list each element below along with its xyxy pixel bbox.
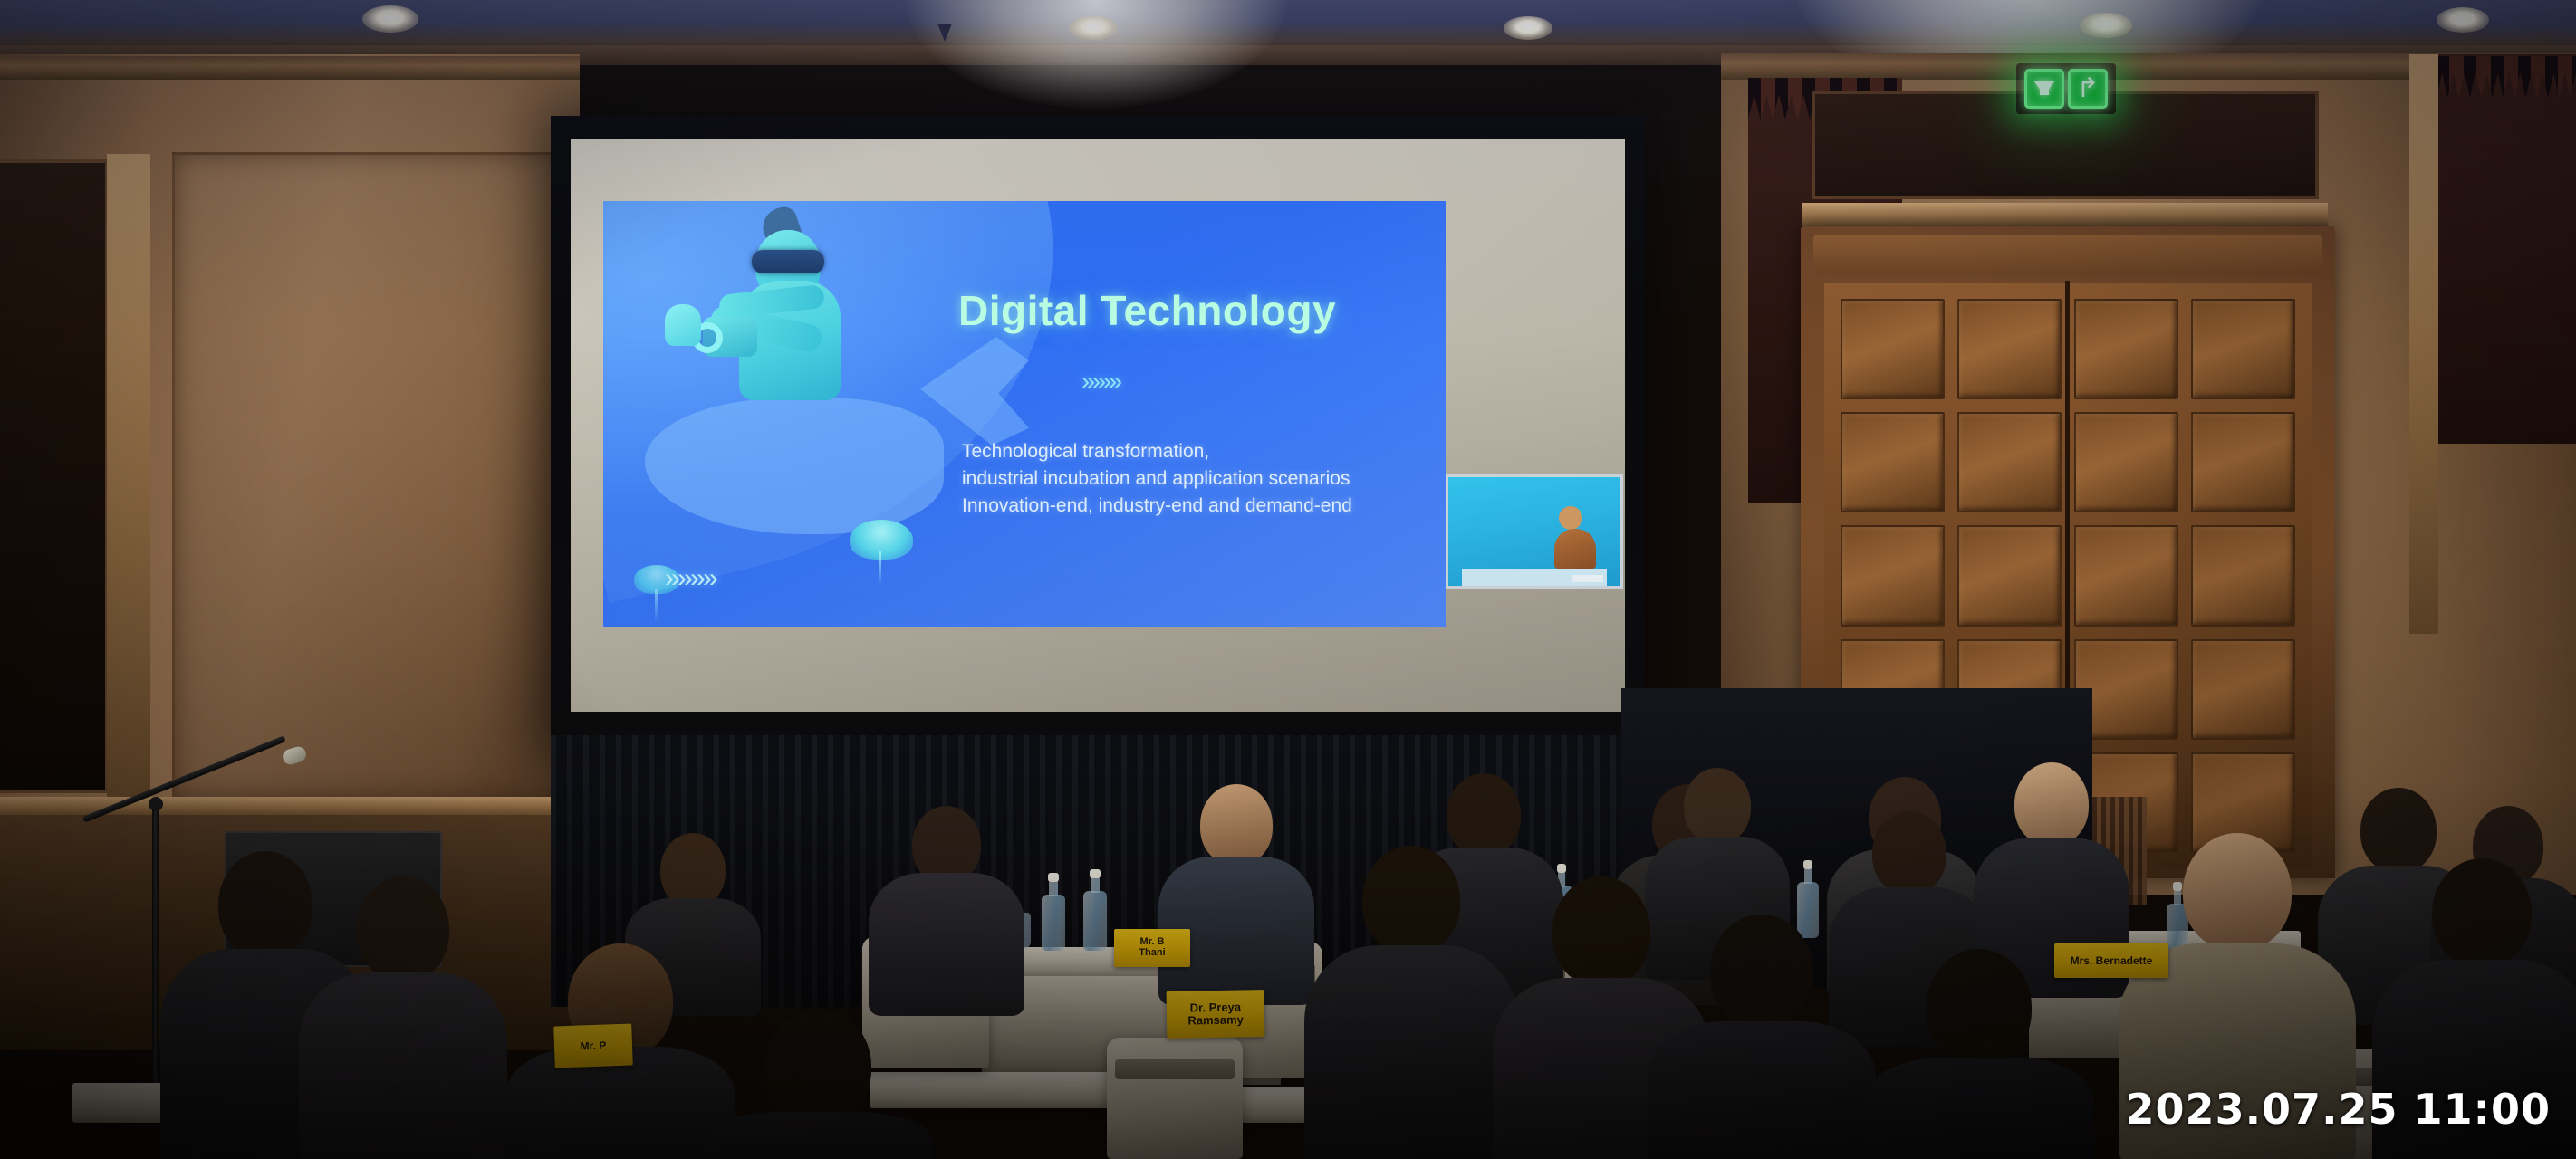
audience-torso	[1304, 945, 1518, 1159]
audience-head	[1927, 949, 2032, 1065]
door-panel-square	[2074, 525, 2178, 626]
name-placard: Mrs. Bernadette	[2054, 943, 2168, 978]
chevron-decoration-right: ›››››››	[1081, 368, 1120, 396]
audience-head	[1362, 846, 1460, 954]
slide-content: ››››››› ›››››››› Digital Technology Tech…	[603, 201, 1446, 627]
door-panel-square	[1957, 525, 2062, 626]
audience-head	[660, 833, 726, 907]
audience-torso	[1648, 1021, 1876, 1159]
exit-down-arrow-icon	[2024, 69, 2064, 109]
exit-sign: ↱	[2016, 63, 2116, 114]
conference-hall-photo: ↱	[0, 0, 2576, 1159]
door-panel-square	[2191, 299, 2295, 399]
door-panel-square	[1841, 525, 1945, 626]
slide-title: Digital Technology	[958, 286, 1336, 335]
door-panel-square	[2074, 299, 2178, 399]
downlight-icon	[362, 5, 418, 33]
left-wall-pilaster	[107, 154, 150, 797]
name-placard: Dr. Preya Ramsamy	[1167, 990, 1265, 1039]
pip-speaker-body	[1554, 529, 1596, 569]
left-wall-chair-rail	[0, 797, 580, 817]
microphone-stand-pole	[152, 804, 159, 1094]
door-panel-square	[1841, 299, 1945, 399]
water-bottle	[1042, 895, 1065, 951]
name-placard: Mr. B Thani	[1114, 929, 1190, 967]
audience-head-bald	[2183, 833, 2292, 951]
door-panel-square	[1957, 299, 2062, 399]
audience-head	[764, 1009, 871, 1123]
name-placard-text-line2: Ramsamy	[1187, 1013, 1244, 1027]
audience-torso	[869, 873, 1024, 1016]
name-placard-text-line2: Thani	[1139, 948, 1165, 959]
downlight-icon	[2080, 13, 2132, 38]
audience-head	[1872, 811, 1946, 895]
door-panel-square	[2191, 525, 2295, 626]
audience-head	[1552, 876, 1650, 987]
audience-head-bald	[1200, 784, 1273, 866]
camera-timestamp: 2023.07.25 11:00	[2126, 1085, 2551, 1134]
water-bottle	[1083, 891, 1107, 951]
audience-head	[357, 876, 449, 982]
audience-member	[870, 806, 1024, 1014]
audience-torso	[1865, 1058, 2093, 1159]
pip-video-feed	[1446, 474, 1623, 589]
audience-head	[2432, 858, 2532, 967]
audience-member-front	[705, 1009, 931, 1159]
door-panel-square	[2074, 412, 2178, 512]
audience-torso	[299, 972, 507, 1159]
left-wall-cornice	[0, 56, 580, 80]
audience-member-front	[1648, 915, 1875, 1159]
door-panel-square	[2191, 639, 2295, 740]
name-placard: Mr. P	[553, 1024, 633, 1068]
door-lintel-trim	[1802, 203, 2328, 226]
audience-member-front	[1866, 949, 2092, 1159]
vr-person-hand	[665, 304, 701, 346]
audience-member	[1159, 784, 1313, 1001]
chevron-decoration-left: ››››››››	[665, 563, 716, 594]
door-panel-square	[1957, 412, 2062, 512]
audience-member-front	[299, 876, 507, 1159]
name-placard-text: Mrs. Bernadette	[2071, 955, 2153, 967]
vr-person-illustration	[716, 203, 906, 438]
exit-running-person-icon: ↱	[2068, 69, 2108, 109]
audience-torso	[704, 1112, 932, 1159]
pip-nameplate	[1572, 575, 1603, 582]
pip-speaker-head	[1559, 506, 1582, 530]
name-placard-text: Mr. P	[580, 1039, 606, 1052]
jellyfish-icon	[850, 520, 913, 560]
door-header-panel	[1813, 235, 2322, 275]
downlight-icon	[1069, 16, 1118, 40]
door-panel-square	[1841, 412, 1945, 512]
projection-screen: ››››››› ›››››››› Digital Technology Tech…	[551, 116, 1645, 742]
right-wall-pilaster	[2409, 54, 2438, 634]
right-wall-dark-panel-right	[2437, 54, 2576, 444]
vr-headset-icon	[752, 250, 824, 273]
audience-head	[1684, 768, 1751, 844]
slide-body-text: Technological transformation, industrial…	[962, 438, 1352, 519]
left-wall-niche	[0, 159, 109, 793]
door-panel-square	[2191, 412, 2295, 512]
audience-head	[1710, 915, 1813, 1029]
audience-head-bald	[2014, 762, 2089, 846]
microphone-joint	[149, 797, 163, 811]
audience-member-front	[1304, 846, 1517, 1159]
downlight-icon	[1504, 16, 1552, 40]
left-wall-panel	[172, 152, 562, 800]
downlight-icon	[2437, 7, 2489, 33]
audience-head	[1447, 773, 1521, 857]
banquet-chair	[1107, 1038, 1243, 1159]
